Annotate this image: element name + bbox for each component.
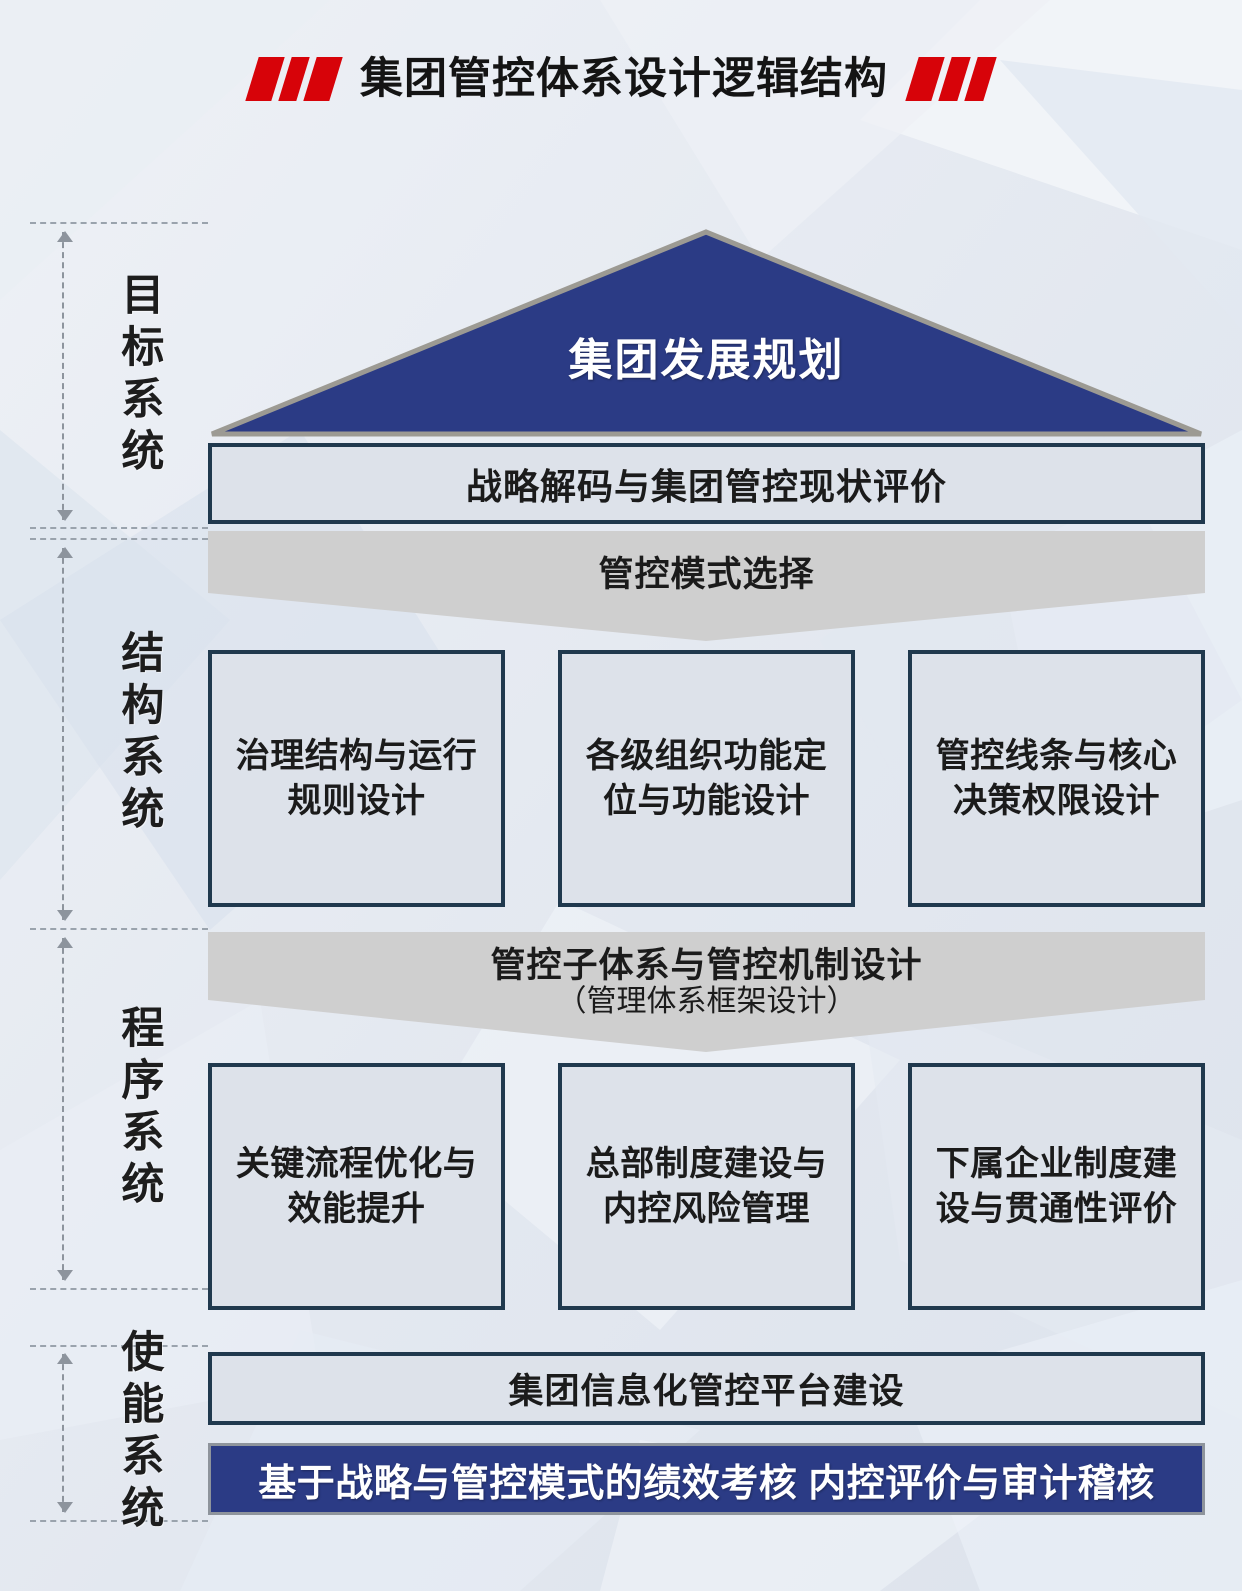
procedure-box-2-label: 总部制度建设与内控风险管理 [570,1142,843,1230]
rail-label-enable: 使能系统 [116,1329,160,1537]
rail-group-procedure: 程序系统 [30,938,208,1280]
performance-bar-label: 基于战略与管控模式的绩效考核 内控评价与审计稽核 [258,1452,1155,1507]
rail-divider [30,1288,208,1290]
structure-box-2[interactable]: 各级组织功能定位与功能设计 [558,650,855,907]
red-slash-bars-left-icon [252,57,336,101]
rail-divider [30,538,208,540]
platform-box-label: 集团信息化管控平台建设 [508,1363,904,1414]
red-slash-bars-right-icon [912,57,990,101]
rail-label-goal: 目标系统 [116,272,160,480]
rail-divider [30,222,208,224]
chevron-control-mode[interactable]: 管控模式选择 [208,531,1205,641]
page-title: 集团管控体系设计逻辑结构 [360,58,888,101]
rail-group-goal: 目标系统 [30,232,208,520]
performance-bar[interactable]: 基于战略与管控模式的绩效考核 内控评价与审计稽核 [208,1443,1205,1515]
rail-label-structure: 结构系统 [116,630,160,838]
rail-label-procedure: 程序系统 [116,1005,160,1213]
rail-range-arrow-icon [62,1354,66,1512]
procedure-box-1[interactable]: 关键流程优化与效能提升 [208,1063,505,1310]
rail-group-structure: 结构系统 [30,548,208,920]
rail-range-arrow-icon [62,938,66,1280]
platform-box[interactable]: 集团信息化管控平台建设 [208,1352,1205,1425]
rail-divider [30,527,208,529]
structure-box-2-label: 各级组织功能定位与功能设计 [570,734,843,822]
structure-box-1-label: 治理结构与运行规则设计 [220,734,493,822]
structure-box-3[interactable]: 管控线条与核心决策权限设计 [908,650,1205,907]
rail-group-enable: 使能系统 [30,1354,208,1512]
strategy-box[interactable]: 战略解码与集团管控现状评价 [208,443,1205,524]
roof-triangle: 集团发展规划 [208,228,1205,440]
rail-divider [30,928,208,930]
stage-rail: 目标系统 结构系统 程序系统 使能系统 [0,0,208,1591]
rail-range-arrow-icon [62,232,66,520]
procedure-box-3-label: 下属企业制度建设与贯通性评价 [920,1142,1193,1230]
strategy-box-label: 战略解码与集团管控现状评价 [466,458,947,510]
structure-box-3-label: 管控线条与核心决策权限设计 [920,734,1193,822]
procedure-box-2[interactable]: 总部制度建设与内控风险管理 [558,1063,855,1310]
rail-range-arrow-icon [62,548,66,920]
procedure-box-1-label: 关键流程优化与效能提升 [220,1142,493,1230]
procedure-box-row: 关键流程优化与效能提升 总部制度建设与内控风险管理 下属企业制度建设与贯通性评价 [208,1063,1205,1310]
structure-box-row: 治理结构与运行规则设计 各级组织功能定位与功能设计 管控线条与核心决策权限设计 [208,650,1205,907]
chevron-subsystem-design[interactable]: 管控子体系与管控机制设计 （管理体系框架设计） [208,932,1205,1052]
procedure-box-3[interactable]: 下属企业制度建设与贯通性评价 [908,1063,1205,1310]
structure-box-1[interactable]: 治理结构与运行规则设计 [208,650,505,907]
